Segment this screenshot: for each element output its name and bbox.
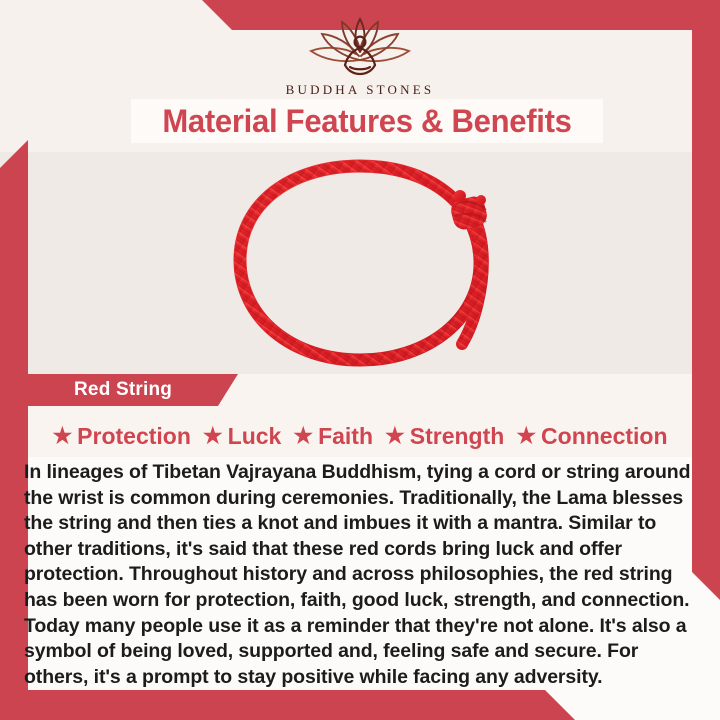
page-title: Material Features & Benefits	[162, 103, 571, 140]
star-icon: ★	[516, 425, 536, 447]
benefit-label: Luck	[228, 423, 282, 450]
product-name-ribbon: Red String	[18, 374, 238, 406]
benefit-label: Connection	[541, 423, 668, 450]
brand-logo: BUDDHA STONES	[0, 16, 720, 98]
description-paragraph: In lineages of Tibetan Vajrayana Buddhis…	[24, 460, 692, 690]
benefit-label: Strength	[410, 423, 505, 450]
lotus-meditation-icon	[304, 16, 416, 78]
product-name-label: Red String	[74, 379, 172, 401]
brand-name: BUDDHA STONES	[0, 82, 720, 98]
star-icon: ★	[203, 425, 223, 447]
star-icon: ★	[52, 425, 72, 447]
benefits-row: ★ Protection ★ Luck ★ Faith ★ Strength ★…	[0, 418, 720, 454]
benefit-item-protection: ★ Protection	[52, 423, 190, 450]
star-icon: ★	[293, 425, 313, 447]
product-info-poster: BUDDHA STONES Material Features & Benefi…	[0, 0, 720, 720]
star-icon: ★	[385, 425, 405, 447]
red-braided-string-bracelet-icon	[0, 152, 720, 374]
title-banner: Material Features & Benefits	[131, 99, 603, 143]
product-image	[0, 152, 720, 374]
benefit-label: Faith	[318, 423, 373, 450]
benefit-item-strength: ★ Strength	[385, 423, 504, 450]
benefit-item-faith: ★ Faith	[293, 423, 373, 450]
decorative-frame-bottom	[0, 690, 600, 720]
benefit-item-luck: ★ Luck	[203, 423, 281, 450]
benefit-label: Protection	[77, 423, 191, 450]
benefit-item-connection: ★ Connection	[516, 423, 667, 450]
